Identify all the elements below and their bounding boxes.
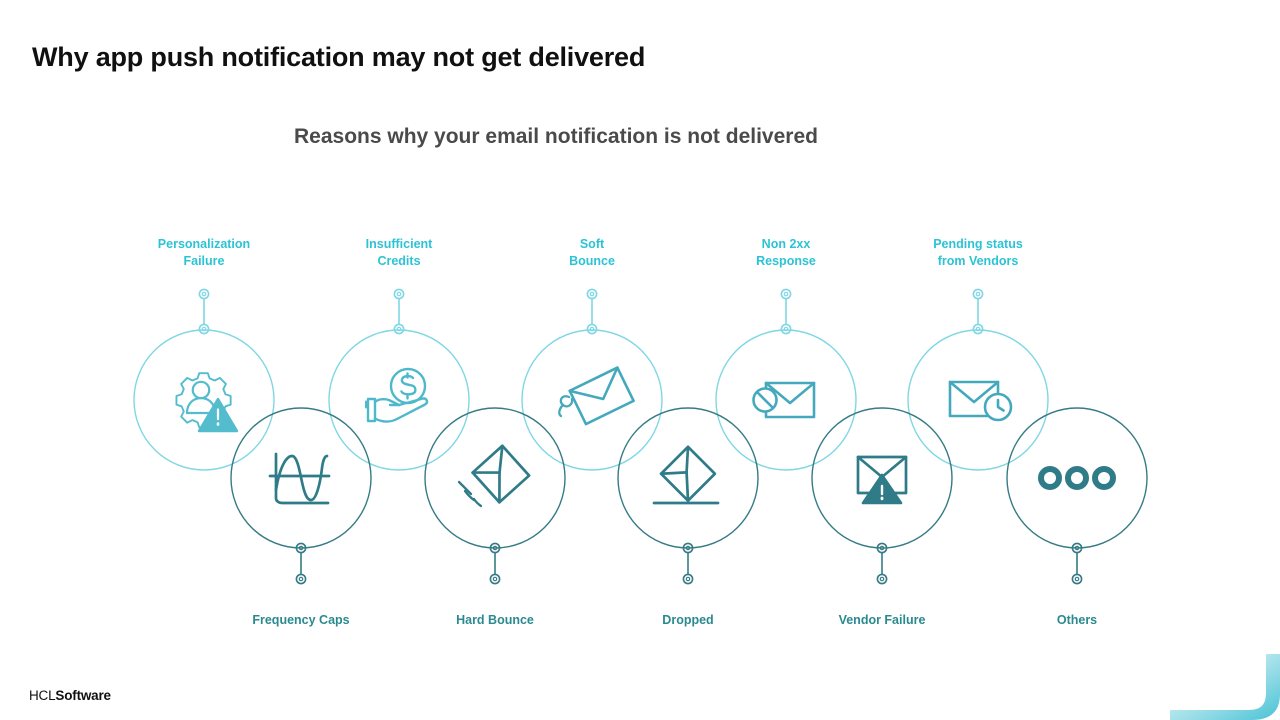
envelope-blocked-icon (754, 383, 815, 417)
circle-chain-diagram (0, 0, 1280, 720)
circle-personalization-failure (134, 330, 274, 470)
circle-soft-bounce (522, 330, 662, 470)
bottom-circles (231, 408, 1147, 548)
line-chart-icon (270, 454, 329, 503)
envelope-clock-icon (950, 382, 1011, 420)
connector-pending-status (973, 289, 982, 333)
logo-text-hcl: HCL (29, 688, 55, 703)
connector-soft-bounce (587, 289, 596, 333)
connector-insufficient-credits (394, 289, 403, 333)
bottom-connectors (296, 543, 1081, 583)
circle-others (1007, 408, 1147, 548)
envelope-bounce-icon (559, 368, 633, 424)
envelope-dropped-icon (654, 447, 718, 503)
gear-user-warning-icon (176, 373, 237, 431)
logo-text-software: Software (55, 688, 110, 703)
connector-vendor-failure (877, 543, 886, 583)
hcl-software-logo: HCLSoftware (29, 688, 111, 703)
top-connectors (199, 289, 982, 333)
connector-personalization-failure (199, 289, 208, 333)
envelope-impact-icon (459, 446, 529, 506)
connector-others (1072, 543, 1081, 583)
top-circles (134, 330, 1048, 470)
envelope-warning-icon (858, 457, 906, 503)
circle-hard-bounce (425, 408, 565, 548)
connector-non-2xx-response (781, 289, 790, 333)
ellipsis-rings-icon (1041, 469, 1113, 487)
connector-hard-bounce (490, 543, 499, 583)
connector-dropped (683, 543, 692, 583)
hand-holding-coin-icon (366, 369, 427, 422)
connector-frequency-caps (296, 543, 305, 583)
slide-canvas: Why app push notification may not get de… (0, 0, 1280, 720)
